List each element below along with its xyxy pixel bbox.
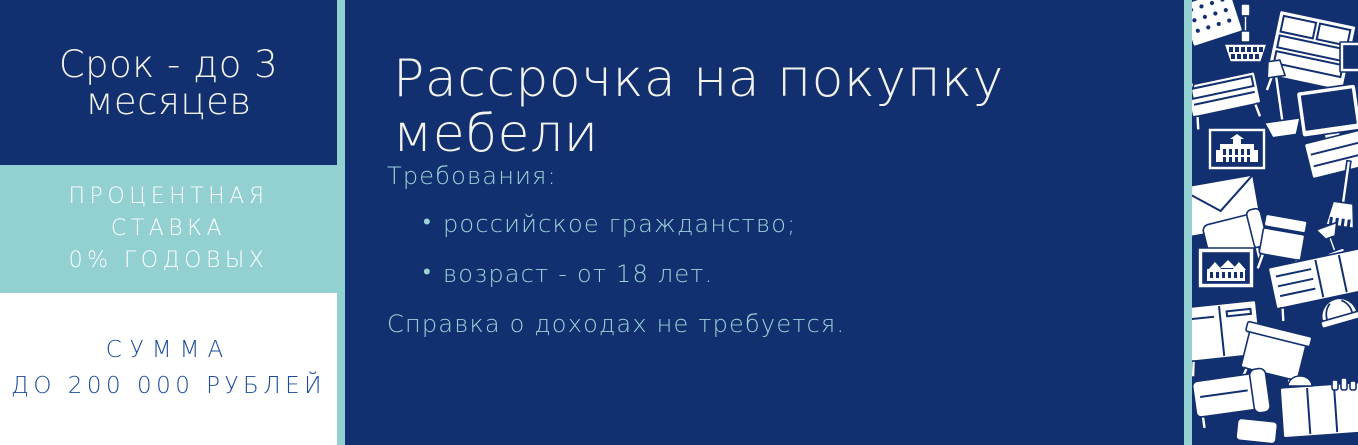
requirements-list: российское гражданство; возраст - от 18 … <box>387 210 1087 288</box>
requirements-block: Требования: российское гражданство; возр… <box>387 162 1087 338</box>
rate-label: ПРОЦЕНТНАЯ СТАВКА <box>69 184 269 241</box>
rate-value: 0% ГОДОВЫХ <box>69 248 269 273</box>
ottoman-icon <box>1236 418 1278 444</box>
promo-banner: Срок - до 3 месяцев ПРОЦЕНТНАЯ СТАВКА 0%… <box>0 0 1358 445</box>
rate-text-block: ПРОЦЕНТНАЯ СТАВКА 0% ГОДОВЫХ <box>0 181 337 277</box>
divider-right <box>1184 0 1192 445</box>
furniture-pattern-panel <box>1192 0 1358 445</box>
amount-text-block: СУММА ДО 200 000 РУБЛЕЙ <box>5 333 332 404</box>
term-text: Срок - до 3 месяцев <box>0 46 337 120</box>
amount-value: ДО 200 000 РУБЛЕЙ <box>11 369 326 405</box>
list-item: возраст - от 18 лет. <box>423 260 1087 288</box>
amount-panel: СУММА ДО 200 000 РУБЛЕЙ <box>0 293 337 445</box>
page-title: Рассрочка на покупку мебели <box>393 52 1163 161</box>
furniture-pattern-graphic <box>1192 0 1358 445</box>
picture-frame-icon <box>1340 42 1358 72</box>
picture-frame-icon <box>1198 248 1254 288</box>
requirements-note: Справка о доходах не требуется. <box>387 310 1087 338</box>
list-item: российское гражданство; <box>423 210 1087 238</box>
sideboard-icon <box>1280 382 1358 437</box>
requirements-label: Требования: <box>387 162 1087 190</box>
left-info-column: Срок - до 3 месяцев ПРОЦЕНТНАЯ СТАВКА 0%… <box>0 0 337 445</box>
divider-left <box>337 0 345 445</box>
term-panel: Срок - до 3 месяцев <box>0 0 337 165</box>
interest-rate-panel: ПРОЦЕНТНАЯ СТАВКА 0% ГОДОВЫХ <box>0 165 337 293</box>
amount-label: СУММА <box>11 333 326 369</box>
main-content-panel: Рассрочка на покупку мебели Требования: … <box>345 0 1184 445</box>
picture-frame-icon <box>1208 128 1266 170</box>
